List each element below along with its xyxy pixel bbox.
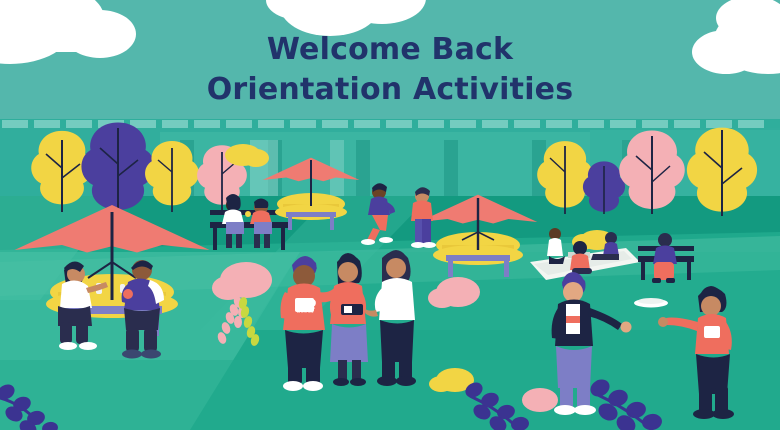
- bush-pink-3: [522, 388, 558, 412]
- park-scene-illustration: [0, 0, 780, 430]
- tshirt-logo-mq: MQ CAMPUS: [704, 327, 720, 339]
- orientation-poster: MQ CAMPUS MQ CAMPUS Welcome Back Orienta…: [0, 0, 780, 430]
- hoodie-logo-mq: MQ CAMPUS: [296, 299, 314, 314]
